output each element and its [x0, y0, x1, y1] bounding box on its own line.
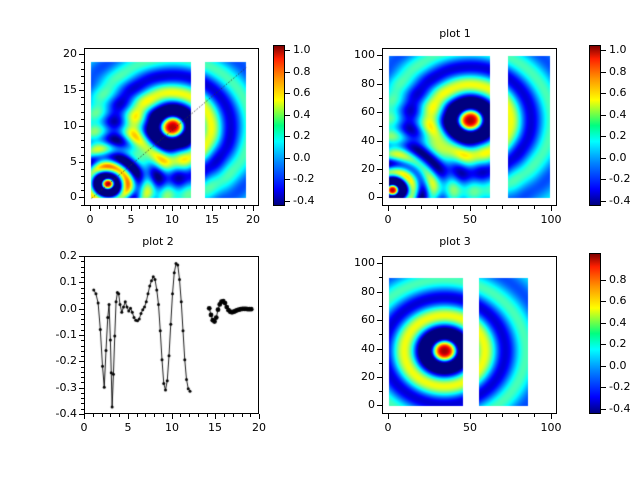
ytick-minor-mark	[379, 112, 382, 113]
xtick-minor-mark	[244, 206, 245, 209]
xtick-minor-mark	[534, 414, 535, 417]
xtick-minor-mark	[453, 414, 454, 417]
ytick-minor-mark	[379, 126, 382, 127]
xtick-label: 20	[237, 422, 281, 433]
xtick-minor-mark	[470, 206, 471, 209]
xtick-minor-mark	[145, 414, 146, 417]
ytick-minor-mark	[81, 162, 84, 163]
colorbar-tick-mark	[285, 201, 290, 202]
xtick-minor-mark	[102, 414, 103, 417]
colorbar-tick-mark	[601, 280, 606, 281]
ytick-minor-mark	[81, 261, 84, 262]
ytick-minor-mark	[81, 119, 84, 120]
ytick-minor-mark	[81, 169, 84, 170]
ytick-minor-mark	[81, 356, 84, 357]
colorbar-tick-label: -0.2	[609, 173, 640, 184]
colorbar-tick-label: 0.8	[293, 66, 333, 77]
xtick-minor-mark	[188, 206, 189, 209]
colorbar-tick-mark	[601, 201, 606, 202]
ytick-minor-mark	[379, 334, 382, 335]
xtick-label: 5	[109, 214, 153, 225]
colorbar-tick-label: 0.6	[609, 295, 640, 306]
ytick-label: 40	[333, 135, 375, 146]
ytick-label: 80	[333, 78, 375, 89]
ytick-minor-mark	[81, 409, 84, 410]
ytick-label: 15	[35, 84, 77, 95]
ytick-minor-mark	[379, 320, 382, 321]
colorbar-tick-label: 0.0	[609, 152, 640, 163]
ytick-minor-mark	[81, 361, 84, 362]
ytick-minor-mark	[379, 183, 382, 184]
colorbar-gradient-top-right	[590, 46, 600, 205]
xtick-minor-mark	[437, 414, 438, 417]
xtick-minor-mark	[405, 206, 406, 209]
ytick-label: 60	[333, 314, 375, 325]
xtick-minor-mark	[198, 414, 199, 417]
ytick-minor-mark	[81, 351, 84, 352]
axes-top-right[interactable]	[382, 48, 557, 206]
ytick-label: 20	[333, 371, 375, 382]
colorbar-tick-mark	[601, 301, 606, 302]
title-plot-2: plot 2	[88, 236, 228, 248]
colorbar-tick-label: 0.0	[293, 152, 333, 163]
ytick-label: 100	[333, 49, 375, 60]
ytick-minor-mark	[81, 256, 84, 257]
xtick-minor-mark	[196, 206, 197, 209]
xtick-minor-mark	[110, 414, 111, 417]
colorbar-tick-mark	[285, 72, 290, 73]
ytick-minor-mark	[379, 306, 382, 307]
xtick-minor-mark	[259, 414, 260, 417]
colorbar-top-right	[589, 45, 601, 206]
ytick-minor-mark	[81, 112, 84, 113]
xtick-minor-mark	[163, 414, 164, 417]
ytick-minor-mark	[379, 98, 382, 99]
xtick-minor-mark	[147, 206, 148, 209]
ytick-label: -0.2	[35, 355, 77, 366]
ytick-minor-mark	[81, 330, 84, 331]
colorbar-tick-mark	[601, 366, 606, 367]
ytick-minor-mark	[379, 349, 382, 350]
ytick-minor-mark	[81, 97, 84, 98]
ytick-minor-mark	[379, 377, 382, 378]
colorbar-tick-label: 0.6	[293, 87, 333, 98]
ytick-minor-mark	[81, 69, 84, 70]
colorbar-tick-mark	[601, 136, 606, 137]
xtick-minor-mark	[84, 414, 85, 417]
ytick-minor-mark	[81, 367, 84, 368]
title-plot-3: plot 3	[385, 236, 525, 248]
xtick-minor-mark	[180, 206, 181, 209]
xtick-minor-mark	[470, 414, 471, 417]
ytick-minor-mark	[379, 169, 382, 170]
ytick-minor-mark	[81, 90, 84, 91]
colorbar-tick-label: 0.4	[293, 109, 333, 120]
ytick-label: 100	[333, 257, 375, 268]
colorbar-tick-label: -0.2	[609, 381, 640, 392]
xtick-minor-mark	[163, 206, 164, 209]
colorbar-tick-label: 0.8	[609, 66, 640, 77]
ytick-minor-mark	[81, 267, 84, 268]
xtick-minor-mark	[93, 414, 94, 417]
ytick-minor-mark	[81, 62, 84, 63]
xtick-label: 15	[190, 214, 234, 225]
ytick-minor-mark	[81, 104, 84, 105]
ytick-minor-mark	[81, 398, 84, 399]
ytick-minor-mark	[81, 76, 84, 77]
xtick-minor-mark	[99, 206, 100, 209]
colorbar-gradient-bottom-right	[590, 254, 600, 413]
ytick-label: 10	[35, 120, 77, 131]
colorbar-tick-label: 0.0	[609, 360, 640, 371]
xtick-label: 0	[366, 214, 410, 225]
xtick-label: 0	[68, 214, 112, 225]
xtick-minor-mark	[486, 414, 487, 417]
colorbar-tick-mark	[601, 387, 606, 388]
ytick-minor-mark	[81, 303, 84, 304]
ytick-label: 0.1	[35, 276, 77, 287]
xtick-minor-mark	[502, 414, 503, 417]
line-series-canvas	[85, 257, 259, 414]
pcolor-image-bottom-right	[383, 257, 557, 414]
colorbar-tick-mark	[285, 179, 290, 180]
xtick-minor-mark	[421, 206, 422, 209]
pcolor-image-top-left	[85, 49, 259, 206]
ytick-minor-mark	[81, 340, 84, 341]
ytick-minor-mark	[81, 183, 84, 184]
xtick-label: 20	[231, 214, 275, 225]
xtick-minor-mark	[502, 206, 503, 209]
ytick-minor-mark	[81, 133, 84, 134]
ytick-minor-mark	[379, 263, 382, 264]
ytick-label: 80	[333, 286, 375, 297]
ytick-minor-mark	[379, 69, 382, 70]
xtick-label: 5	[106, 422, 150, 433]
ytick-minor-mark	[379, 197, 382, 198]
ytick-minor-mark	[379, 141, 382, 142]
xtick-minor-mark	[388, 206, 389, 209]
ytick-label: 20	[333, 163, 375, 174]
colorbar-tick-mark	[285, 50, 290, 51]
xtick-minor-mark	[518, 206, 519, 209]
ytick-minor-mark	[81, 403, 84, 404]
xtick-minor-mark	[486, 206, 487, 209]
xtick-minor-mark	[123, 206, 124, 209]
ytick-label: 0.2	[35, 250, 77, 261]
ytick-minor-mark	[379, 155, 382, 156]
xtick-minor-mark	[172, 414, 173, 417]
ytick-minor-mark	[81, 388, 84, 389]
ytick-minor-mark	[81, 346, 84, 347]
xtick-minor-mark	[155, 206, 156, 209]
xtick-minor-mark	[534, 206, 535, 209]
ytick-minor-mark	[379, 363, 382, 364]
ytick-minor-mark	[81, 293, 84, 294]
xtick-minor-mark	[388, 414, 389, 417]
colorbar-tick-label: -0.2	[293, 173, 333, 184]
xtick-label: 50	[448, 214, 492, 225]
ytick-minor-mark	[81, 382, 84, 383]
ytick-minor-mark	[81, 393, 84, 394]
ytick-minor-mark	[81, 272, 84, 273]
ytick-label: -0.4	[35, 408, 77, 419]
colorbar-tick-label: 0.2	[609, 130, 640, 141]
colorbar-bottom-right	[589, 253, 601, 414]
xtick-minor-mark	[228, 206, 229, 209]
colorbar-tick-mark	[601, 409, 606, 410]
xtick-minor-mark	[207, 414, 208, 417]
ytick-label: 0	[333, 191, 375, 202]
axes-bottom-left[interactable]	[84, 256, 259, 414]
ytick-minor-mark	[81, 176, 84, 177]
xtick-minor-mark	[405, 414, 406, 417]
ytick-minor-mark	[81, 197, 84, 198]
ytick-minor-mark	[81, 54, 84, 55]
xtick-minor-mark	[551, 414, 552, 417]
ytick-minor-mark	[81, 147, 84, 148]
colorbar-tick-mark	[601, 179, 606, 180]
ytick-minor-mark	[81, 372, 84, 373]
xtick-label: 100	[529, 422, 573, 433]
xtick-label: 100	[529, 214, 573, 225]
xtick-minor-mark	[242, 414, 243, 417]
ytick-minor-mark	[81, 83, 84, 84]
colorbar-top-left	[273, 45, 285, 206]
xtick-label: 10	[150, 422, 194, 433]
ytick-minor-mark	[81, 319, 84, 320]
xtick-minor-mark	[172, 206, 173, 209]
xtick-minor-mark	[224, 414, 225, 417]
ytick-minor-mark	[379, 277, 382, 278]
xtick-minor-mark	[119, 414, 120, 417]
colorbar-tick-label: 0.4	[609, 109, 640, 120]
ytick-minor-mark	[379, 391, 382, 392]
ytick-minor-mark	[379, 405, 382, 406]
ytick-minor-mark	[81, 155, 84, 156]
xtick-minor-mark	[189, 414, 190, 417]
xtick-minor-mark	[437, 206, 438, 209]
colorbar-tick-mark	[601, 72, 606, 73]
colorbar-tick-label: 0.6	[609, 87, 640, 98]
colorbar-tick-mark	[285, 115, 290, 116]
colorbar-tick-mark	[601, 93, 606, 94]
ytick-minor-mark	[81, 126, 84, 127]
ytick-minor-mark	[379, 55, 382, 56]
colorbar-tick-mark	[285, 136, 290, 137]
colorbar-tick-mark	[601, 115, 606, 116]
ytick-minor-mark	[81, 140, 84, 141]
colorbar-tick-mark	[601, 344, 606, 345]
ytick-minor-mark	[81, 314, 84, 315]
xtick-minor-mark	[250, 414, 251, 417]
xtick-label: 10	[150, 214, 194, 225]
ytick-minor-mark	[379, 84, 382, 85]
xtick-minor-mark	[131, 206, 132, 209]
xtick-label: 0	[366, 422, 410, 433]
colorbar-tick-mark	[601, 50, 606, 51]
ytick-label: 0.0	[35, 303, 77, 314]
colorbar-tick-label: 1.0	[293, 44, 333, 55]
xtick-minor-mark	[107, 206, 108, 209]
ytick-minor-mark	[81, 288, 84, 289]
ytick-minor-mark	[81, 309, 84, 310]
colorbar-tick-label: 0.4	[609, 317, 640, 328]
xtick-minor-mark	[236, 206, 237, 209]
axes-bottom-right[interactable]	[382, 256, 557, 414]
xtick-minor-mark	[253, 206, 254, 209]
colorbar-gradient-top-left	[274, 46, 284, 205]
axes-top-left[interactable]	[84, 48, 259, 206]
xtick-minor-mark	[518, 414, 519, 417]
ytick-label: 60	[333, 106, 375, 117]
xtick-minor-mark	[204, 206, 205, 209]
xtick-minor-mark	[551, 206, 552, 209]
ytick-label: 0	[35, 191, 77, 202]
pcolor-image-top-right	[383, 49, 557, 206]
colorbar-tick-mark	[601, 158, 606, 159]
ytick-minor-mark	[81, 298, 84, 299]
xtick-label: 15	[193, 422, 237, 433]
colorbar-tick-label: 1.0	[609, 44, 640, 55]
xtick-minor-mark	[233, 414, 234, 417]
xtick-minor-mark	[220, 206, 221, 209]
ytick-label: 5	[35, 156, 77, 167]
colorbar-tick-mark	[601, 323, 606, 324]
ytick-minor-mark	[81, 282, 84, 283]
colorbar-tick-label: -0.4	[609, 403, 640, 414]
colorbar-tick-mark	[285, 93, 290, 94]
colorbar-tick-label: -0.4	[293, 195, 333, 206]
xtick-minor-mark	[421, 414, 422, 417]
ytick-label: -0.3	[35, 382, 77, 393]
xtick-minor-mark	[154, 414, 155, 417]
xtick-minor-mark	[453, 206, 454, 209]
xtick-label: 0	[62, 422, 106, 433]
ytick-minor-mark	[81, 324, 84, 325]
xtick-minor-mark	[139, 206, 140, 209]
colorbar-tick-label: 0.2	[609, 338, 640, 349]
ytick-label: 40	[333, 343, 375, 354]
xtick-minor-mark	[212, 206, 213, 209]
ytick-minor-mark	[81, 377, 84, 378]
ytick-minor-mark	[379, 292, 382, 293]
ytick-label: 20	[35, 48, 77, 59]
xtick-label: 50	[448, 422, 492, 433]
figure-canvas: 05101520 05101520 1.00.80.60.40.20.0-0.2…	[0, 0, 640, 480]
colorbar-tick-label: -0.4	[609, 195, 640, 206]
ytick-minor-mark	[81, 205, 84, 206]
ytick-label: -0.1	[35, 329, 77, 340]
xtick-minor-mark	[128, 414, 129, 417]
ytick-minor-mark	[81, 190, 84, 191]
xtick-minor-mark	[137, 414, 138, 417]
xtick-minor-mark	[115, 206, 116, 209]
xtick-minor-mark	[215, 414, 216, 417]
xtick-minor-mark	[90, 206, 91, 209]
title-plot-1: plot 1	[385, 28, 525, 40]
xtick-minor-mark	[180, 414, 181, 417]
colorbar-tick-label: 0.2	[293, 130, 333, 141]
colorbar-tick-mark	[285, 158, 290, 159]
ytick-label: 0	[333, 399, 375, 410]
ytick-minor-mark	[81, 335, 84, 336]
ytick-minor-mark	[81, 277, 84, 278]
colorbar-tick-label: 0.8	[609, 274, 640, 285]
